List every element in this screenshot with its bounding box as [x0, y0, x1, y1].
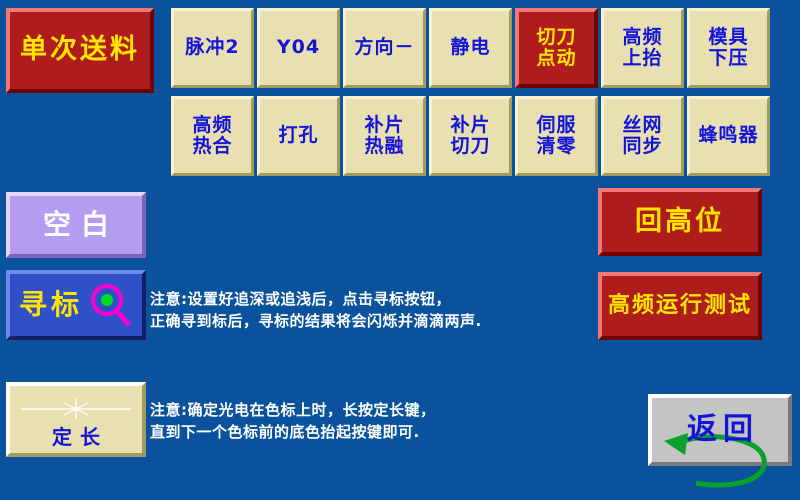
grid-key-r2-c3[interactable]: 补片 热融: [343, 96, 426, 176]
single-feed-button[interactable]: 单次送料: [6, 8, 154, 93]
seek-mark-button[interactable]: 寻标: [6, 270, 146, 340]
grid-key-r1-c5[interactable]: 切刀 点动: [515, 8, 598, 88]
magnifier-icon: [87, 281, 133, 329]
grid-key-r1-c6[interactable]: 高频 上抬: [601, 8, 684, 88]
seek-mark-label: 寻标: [19, 289, 83, 320]
blank-button[interactable]: 空白: [6, 192, 146, 258]
grid-key-r2-c4[interactable]: 补片 切刀: [429, 96, 512, 176]
hmi-screen: 单次送料 脉冲2Y04方向－静电切刀 点动高频 上抬模具 下压高频 热合打孔补片…: [0, 0, 800, 480]
grid-key-r1-c3[interactable]: 方向－: [343, 8, 426, 88]
fixed-length-label: 定长: [44, 426, 108, 448]
grid-key-r2-c2[interactable]: 打孔: [257, 96, 340, 176]
grid-key-r1-c1[interactable]: 脉冲2: [171, 8, 254, 88]
grid-key-r1-c7[interactable]: 模具 下压: [687, 8, 770, 88]
return-button[interactable]: 返回: [648, 394, 792, 466]
grid-key-r1-c2[interactable]: Y04: [257, 8, 340, 88]
seek-mark-note: 注意:设置好追深或追浅后，点击寻标按钮， 正确寻到标后，寻标的结果将会闪烁并滴滴…: [150, 289, 590, 333]
grid-key-r1-c4[interactable]: 静电: [429, 8, 512, 88]
grid-key-r2-c1[interactable]: 高频 热合: [171, 96, 254, 176]
grid-key-r2-c5[interactable]: 伺服 清零: [515, 96, 598, 176]
grid-key-r2-c7[interactable]: 蜂鸣器: [687, 96, 770, 176]
sparkle-icon: [16, 398, 136, 420]
fixed-length-button[interactable]: 定长: [6, 382, 146, 457]
fixed-length-note: 注意:确定光电在色标上时，长按定长键， 直到下一个色标前的底色抬起按键即可.: [150, 400, 550, 444]
return-label: 返回: [681, 413, 759, 447]
return-high-position-button[interactable]: 回高位: [598, 188, 762, 256]
hf-run-test-button[interactable]: 高频运行测试: [598, 272, 762, 340]
grid-key-r2-c6[interactable]: 丝网 同步: [601, 96, 684, 176]
